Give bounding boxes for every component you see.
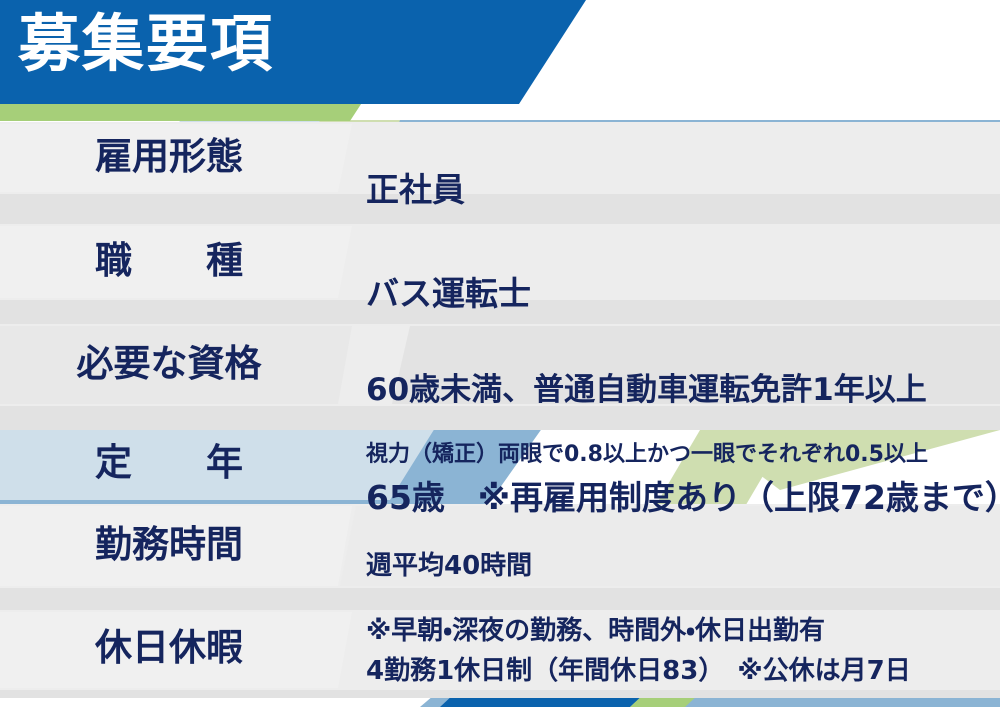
table-text-layer: 雇用形態 正社員 職 種 バス運転士 必要な資格 60歳未満、普通自動車運転免許… bbox=[0, 0, 1000, 707]
row-label: 休日休暇 bbox=[0, 629, 338, 668]
row-value-line: 4勤務1休日制（年間休日83） ※公休は月7日 bbox=[366, 657, 996, 686]
table-row: 定 年 65歳 ※再雇用制度あり（上限72歳まで） bbox=[0, 430, 1000, 500]
table-row: 雇用形態 正社員 bbox=[0, 124, 1000, 194]
row-value-line: 正社員 bbox=[366, 172, 996, 209]
row-label: 必要な資格 bbox=[0, 345, 338, 384]
row-label: 勤務時間 bbox=[0, 526, 338, 565]
row-value: 4勤務1休日制（年間休日83） ※公休は月7日 年次有給休暇、慶弔休暇、育児休暇… bbox=[366, 621, 996, 707]
row-value-line: 週平均40時間 bbox=[366, 552, 996, 581]
row-label: 雇用形態 bbox=[0, 138, 338, 177]
row-label: 職 種 bbox=[0, 242, 338, 281]
row-value-line: バス運転士 bbox=[366, 276, 996, 313]
row-label: 定 年 bbox=[0, 444, 338, 483]
recruitment-table-graphic: 募集要項 雇用形態 正社員 職 種 バス運転士 必要な資格 60歳未満、普通自動… bbox=[0, 0, 1000, 707]
table-row: 勤務時間 週平均40時間 ※早朝・深夜の勤務、時間外・休日出勤有 bbox=[0, 506, 1000, 586]
table-row: 休日休暇 4勤務1休日制（年間休日83） ※公休は月7日 年次有給休暇、慶弔休暇… bbox=[0, 612, 1000, 688]
table-row: 必要な資格 60歳未満、普通自動車運転免許1年以上 視力（矯正）両眼で0.8以上… bbox=[0, 326, 1000, 406]
table-row: 職 種 バス運転士 bbox=[0, 226, 1000, 300]
row-value-line: 60歳未満、普通自動車運転免許1年以上 bbox=[366, 373, 996, 408]
